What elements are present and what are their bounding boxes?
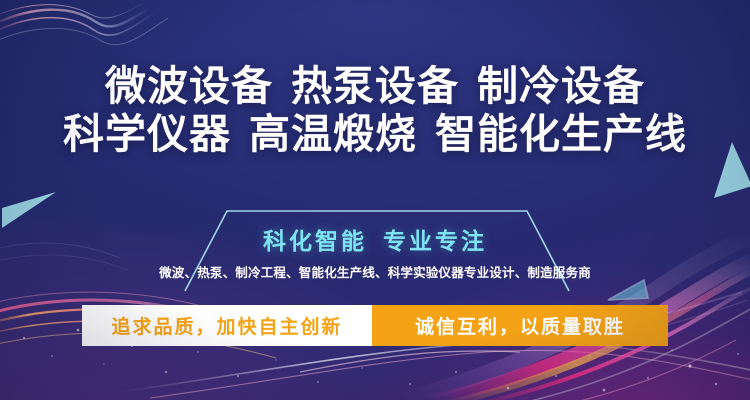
promo-banner: 微波设备热泵设备制冷设备 科学仪器高温煅烧智能化生产线 科化智能专业专注 微波、… <box>0 0 750 400</box>
vignette-overlay <box>0 0 750 400</box>
